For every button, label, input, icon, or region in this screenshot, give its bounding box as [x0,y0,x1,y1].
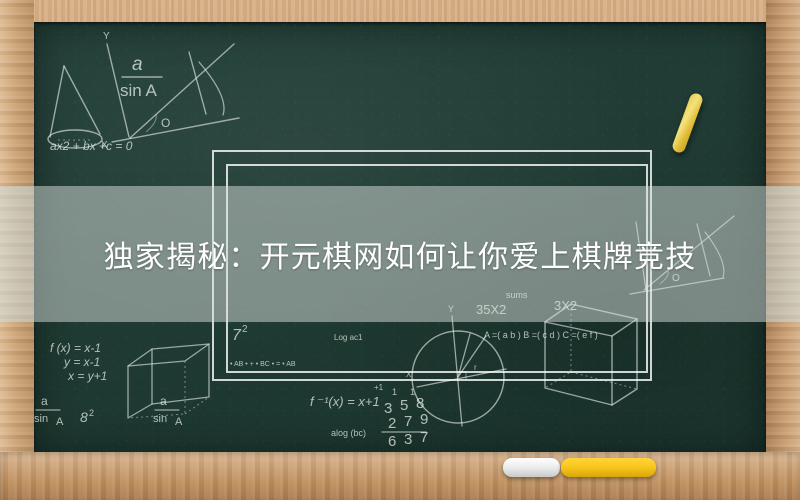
cone-diagram [48,66,102,148]
law-of-sines-b: a sin A [153,394,183,428]
svg-text:5: 5 [400,397,408,414]
law-of-sines-top: a sin A [120,54,162,100]
cube-wireframe-left [128,344,209,418]
svg-text:2: 2 [89,408,94,418]
svg-text:x = y+1: x = y+1 [67,369,107,383]
alog-expression: alog (bc) [331,428,366,438]
chalk-ledge [0,452,800,500]
white-chalk-icon [503,458,560,477]
svg-text:A: A [175,416,183,428]
svg-text:A: A [56,416,64,428]
page-title: 独家揭秘：开元棋网如何让你爱上棋牌竞技 [0,186,800,322]
svg-text:O: O [161,116,170,130]
svg-text:+1: +1 [374,383,384,392]
svg-text:f ⁻¹(x) = x+1: f ⁻¹(x) = x+1 [310,394,380,409]
svg-text:a: a [160,394,167,408]
svg-text:3: 3 [404,431,412,448]
svg-text:X: X [101,140,108,151]
subtraction-worksheet: 1 1 3 5 8 2 7 9 6 3 7 +1 [374,383,428,450]
svg-text:alog (bc): alog (bc) [331,428,366,438]
svg-text:1: 1 [392,387,397,397]
svg-text:Y: Y [103,31,110,42]
svg-text:2: 2 [388,415,396,432]
svg-text:sin: sin [34,413,48,425]
svg-text:8: 8 [80,409,88,425]
function-equations: f (x) = x-1 y = x-1 x = y+1 [50,341,107,383]
svg-text:sin: sin [153,413,167,425]
svg-text:6: 6 [388,433,396,450]
svg-text:sin A: sin A [120,81,158,100]
inverse-function: f ⁻¹(x) = x+1 [310,394,380,409]
svg-text:9: 9 [420,411,428,428]
svg-text:a: a [132,54,143,75]
svg-text:y = x-1: y = x-1 [63,355,100,369]
svg-text:7: 7 [404,413,412,430]
svg-text:f (x) = x-1: f (x) = x-1 [50,341,101,355]
svg-text:7: 7 [420,429,428,446]
chalkboard-banner-image: a sin A ax2 + bx +c = 0 Y X O [0,0,800,500]
svg-text:a: a [41,394,48,408]
power-eight-squared: 8 2 [80,408,94,425]
law-of-sines-a: a sin A [34,394,64,428]
yellow-chalk-icon [561,458,656,477]
